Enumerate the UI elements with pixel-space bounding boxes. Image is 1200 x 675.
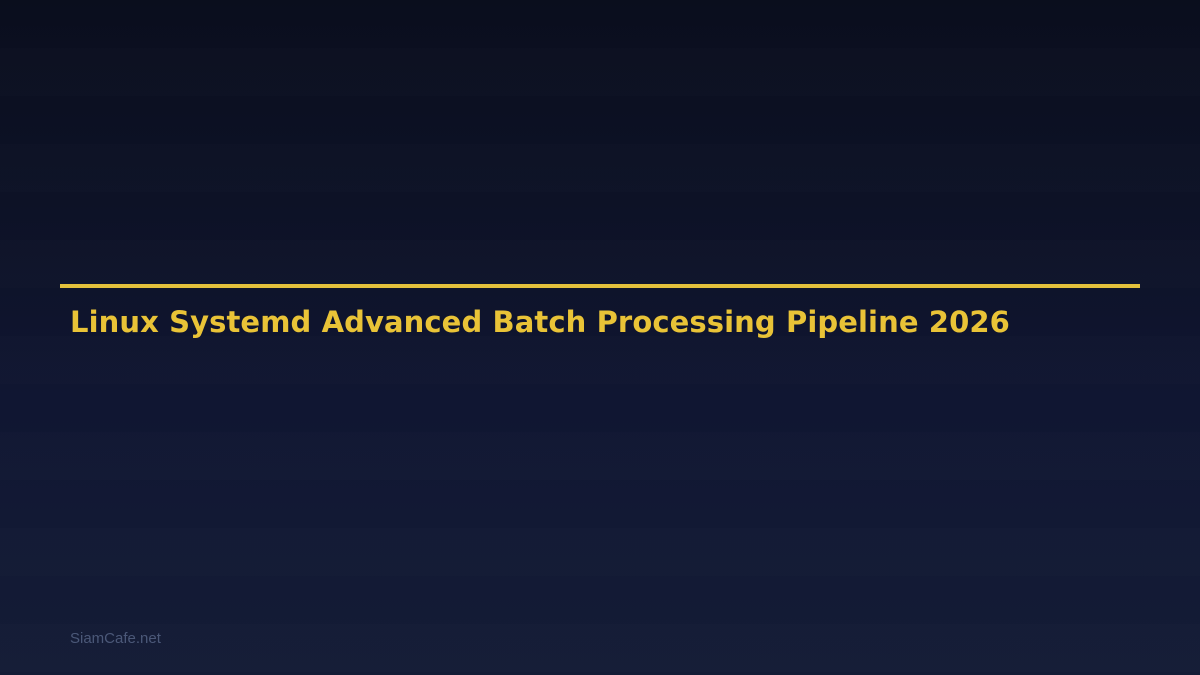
accent-rule-divider: [60, 284, 1140, 288]
slide-canvas: Linux Systemd Advanced Batch Processing …: [0, 0, 1200, 675]
page-title: Linux Systemd Advanced Batch Processing …: [70, 305, 1140, 339]
title-block: Linux Systemd Advanced Batch Processing …: [60, 284, 1140, 339]
footer-brand-label: SiamCafe.net: [70, 630, 161, 648]
